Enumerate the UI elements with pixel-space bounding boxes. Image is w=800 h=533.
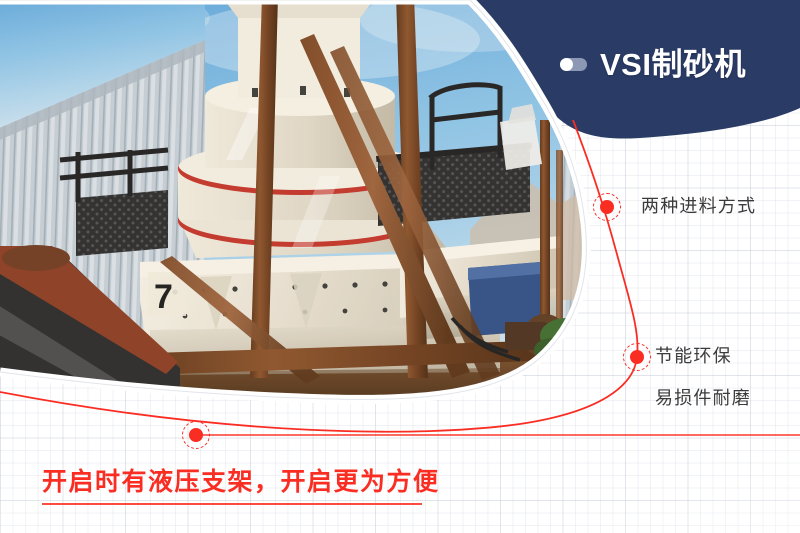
- toggle-pill-icon: [560, 58, 587, 71]
- dot-core: [189, 428, 203, 442]
- red-dot-marker-icon-2: [623, 343, 651, 371]
- banner-stage: 7: [0, 0, 800, 533]
- banner-title-block: VSI制砂机: [560, 40, 800, 88]
- caption-underline: [42, 503, 422, 505]
- dot-core: [630, 350, 644, 364]
- dot-core: [600, 200, 614, 214]
- feature-label-1: 两种进料方式: [641, 197, 756, 215]
- feature-label-3: 易损件耐磨: [655, 389, 751, 407]
- red-dot-marker-icon-3: [182, 421, 210, 449]
- page-title: VSI制砂机: [600, 49, 746, 80]
- banner-caption: 开启时有液压支架，开启更为方便: [42, 470, 440, 495]
- red-curve-path: [0, 120, 638, 432]
- red-dot-marker-icon-1: [593, 193, 621, 221]
- feature-label-2: 节能环保: [655, 347, 732, 365]
